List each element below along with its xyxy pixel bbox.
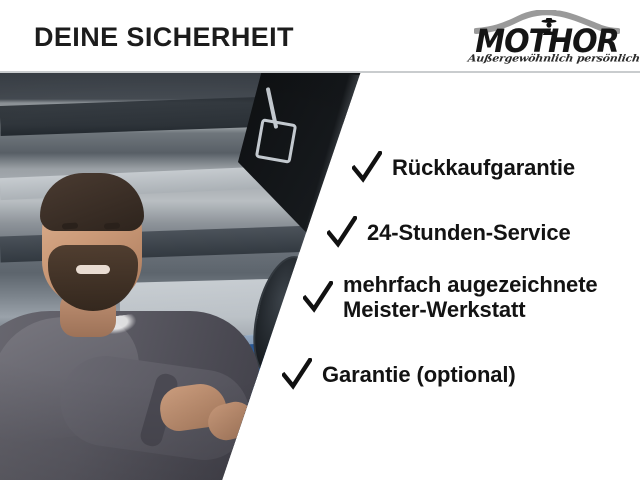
person-with-hat-icon [538,18,560,35]
check-mark-icon [282,358,312,392]
page-title: DEINE SICHERHEIT [34,22,294,53]
header-divider [0,71,640,73]
banner-header: DEINE SICHERHEIT MOTHOR Außergewöhnlich … [0,0,640,72]
benefits-list: Rückkaufgarantie 24-Stunden-Service mehr… [0,73,640,480]
list-item-label: mehrfach augezeichnete Meister-Werkstatt [343,273,598,322]
list-item: 24-Stunden-Service [327,216,571,250]
list-item-label: 24-Stunden-Service [367,221,571,246]
list-item-label: Garantie (optional) [322,363,516,388]
list-item: Garantie (optional) [282,358,516,392]
logo-tagline: Außergewöhnlich persönlich! [467,53,627,65]
check-mark-icon [327,216,357,250]
check-mark-icon [303,281,333,315]
list-item-label: Rückkaufgarantie [392,156,575,181]
list-item: mehrfach augezeichnete Meister-Werkstatt [303,273,598,322]
check-mark-icon [352,151,382,185]
list-item: Rückkaufgarantie [352,151,575,185]
promo-banner: Rückkaufgarantie 24-Stunden-Service mehr… [0,0,640,480]
mothor-logo: MOTHOR Außergewöhnlich persönlich! [468,8,626,66]
